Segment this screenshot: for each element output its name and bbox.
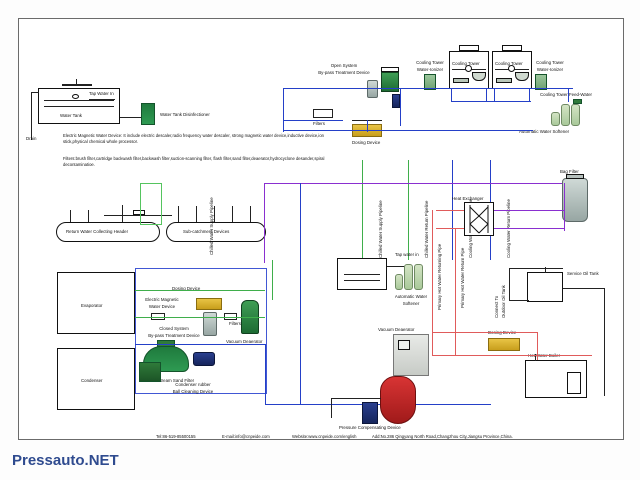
connect-to-outdoor-oil-tank-label-2: Outdoor Oil Tank — [501, 285, 507, 318]
service-oil-tank-label: Service Oil Tank — [567, 271, 599, 277]
dosing-device-top-label: Dosing Device — [352, 140, 380, 146]
pipe-bypass-return-riser — [400, 88, 401, 126]
pipe-bypass-riser — [283, 88, 284, 132]
pipe-dosing-top-drop — [367, 120, 368, 132]
oil-supply-drop — [604, 288, 605, 396]
oil-fill-line — [509, 268, 563, 269]
heat-exchanger-coil-icon — [464, 202, 494, 236]
connect-to-outdoor-oil-tank-label-1: Connect To — [494, 296, 500, 318]
pipe-cooling-top-return — [283, 130, 533, 131]
closed-bypass-vessel — [203, 312, 217, 336]
footer-tel: Tel:86-519-85500155 — [156, 434, 196, 439]
bypass-pump — [392, 94, 400, 108]
water-tank-disinfectioner-label: Water Tank Disinfectioner — [160, 112, 210, 118]
pipe-ct2-down — [494, 88, 495, 102]
pipe-hx-red-out — [436, 228, 464, 229]
water-tank-float-valve — [72, 94, 79, 99]
pipe-purple-riser — [264, 183, 265, 263]
pipe-condenser-bottom-main — [265, 404, 491, 405]
pipe-feedwater-riser — [568, 88, 569, 102]
electric-magnetic-water-device-label-2: Water Device — [134, 304, 190, 310]
tap-water-in-pipe — [89, 99, 115, 100]
chilled-water-return-pipeline-label: Chilled Water Return Pipeline — [424, 201, 430, 258]
pipe-boiler-supply-main — [432, 332, 537, 333]
pipe-ct2-up — [529, 88, 530, 102]
condenser-ball-cleaning-label-2: Ball Cleaning Device — [160, 389, 226, 395]
cooling-tower-2-fan-housing — [502, 45, 522, 51]
filters-top-label: Filters — [313, 121, 325, 127]
pressure-tank-drop — [331, 398, 332, 418]
cooling-tower-feed-water-label: Cooling Tower Feed-Water — [540, 92, 592, 98]
closed-system-bypass-label-2: By-pass Treatment Device — [135, 333, 213, 339]
drain-line — [31, 92, 32, 140]
watermark: Pressauto.NET — [12, 452, 119, 469]
pipe-condenser-riser — [265, 344, 266, 404]
pipe-ct-header — [451, 101, 531, 102]
condenser-label: Condenser — [81, 378, 102, 384]
footer-email: E-mail:info@cnpeide.com — [222, 434, 270, 439]
primary-hot-water-return-pipe-label: Primary Hot Water Return Pipe — [460, 248, 466, 308]
oil-fill-riser — [509, 268, 510, 300]
pipe-bagfilter-riser — [564, 183, 565, 231]
water-softener-mid-vessel-1 — [404, 264, 413, 290]
water-softener-mid-vessel-2 — [414, 264, 423, 290]
chilled-water-supply-pipeline-b-label: Chilled Water Supply Pipeline — [378, 200, 384, 258]
hot-water-boiler-burner — [567, 372, 581, 394]
pipe-closed-top — [135, 290, 265, 291]
automatic-water-softener-mid-label-1: Automatic Water — [383, 294, 439, 300]
cooling-tower-1-fan-housing — [459, 45, 479, 51]
vacuum-deaerator-bottom-panel — [398, 340, 410, 350]
pipe-green-branch — [272, 260, 273, 300]
cooling-tower-ionizer-right-label-1: Cooling Tower — [524, 60, 576, 66]
filters-mid-label: Filters — [229, 321, 241, 327]
cooling-tower-1-label: Cooling Tower — [452, 61, 480, 67]
pipe-boiler-return-main — [432, 355, 592, 356]
bag-filter-lid — [566, 174, 584, 179]
oil-return-line — [509, 300, 529, 301]
water-tank-lid — [62, 84, 92, 86]
pipe-blue-long-riser — [300, 183, 301, 404]
evaporator-label: Evaporator — [81, 303, 102, 309]
pipe-hx-red-in — [436, 210, 464, 211]
tap-water-in-mid-label: Tap water in — [395, 252, 419, 258]
pipe-closed-bottom — [135, 317, 265, 318]
water-tank-label: Water Tank — [60, 113, 82, 119]
water-softener-mid-brine-tank — [395, 274, 403, 290]
pipe-hot-returning — [432, 210, 433, 355]
pipe-ct1-up — [486, 88, 487, 102]
water-tank-disinfectioner-unit — [141, 103, 155, 125]
oil-supply-line — [563, 288, 605, 289]
cooling-tower-ionizer-left-label-1: Cooling Tower — [404, 60, 456, 66]
water-tank-level-1 — [44, 100, 114, 101]
water-tank-vent — [76, 79, 77, 85]
cooling-tower-1-basin — [453, 78, 469, 83]
pipe-purple-main — [264, 183, 564, 184]
expansion-tank-level-1 — [344, 274, 380, 275]
pipe-chilled-return — [408, 160, 409, 260]
cooling-tower-ionizer-right-label-2: Water-Ionizer — [524, 67, 576, 73]
return-water-collecting-header-label: Return Water Collecting Header — [66, 229, 128, 235]
bypass-skid-top — [381, 67, 399, 72]
electric-magnetic-water-device-label-1: Electric Magnetic — [134, 297, 190, 303]
pipe-hot-return — [455, 228, 456, 355]
water-softener-top-vessel-1 — [561, 104, 570, 126]
pressure-compensating-device-label: Pressure Compensating Device — [339, 425, 401, 431]
expansion-tank-level-2 — [344, 280, 380, 281]
pipe-boiler-supply-drop — [537, 332, 538, 360]
automatic-water-softener-mid-label-2: Softener — [383, 301, 439, 307]
footer-website: Website:www.cnpeide.com/english — [292, 434, 356, 439]
primary-hot-water-returning-pipe-label: Primary Hot Water Returning Pipe — [437, 244, 443, 310]
side-stream-pump — [193, 352, 215, 366]
note-filters: Filters:brush filter,cartridge backwash … — [63, 156, 338, 168]
pipe-bypass-branch — [283, 120, 343, 121]
open-system-bypass-label-1: Open System — [305, 63, 383, 69]
cooling-tower-ionizer-left-label-2: Water-Ionizer — [404, 67, 456, 73]
footer-address: Add:No.286 Qingyang North Road,Changzhou… — [372, 434, 513, 439]
pipe-ct1-down — [451, 88, 452, 102]
pipe-hx-purple-in — [494, 228, 564, 229]
cooling-tower-2-basin — [496, 78, 512, 83]
water-tank-level-2 — [44, 106, 114, 107]
diagram-canvas: HVACSystem Diagram Water Tank Drain Tap … — [0, 0, 640, 480]
sub-catchment-devices-label: Sub-catchment Devices — [183, 229, 229, 235]
chilled-water-supply-pipeline-a-label: Chilled Water Supply Pipeline — [209, 197, 215, 255]
tap-water-in-top-label: Tap Water In — [89, 91, 114, 97]
drain-connector — [31, 92, 39, 93]
vacuum-deaerator-bottom-label: Vacuum Deaerator — [378, 327, 415, 333]
pipe-condenser-loop — [135, 344, 265, 345]
pressure-tank-line — [331, 398, 381, 399]
pressure-compensating-tank — [380, 376, 416, 424]
service-oil-tank-body — [527, 272, 563, 302]
water-softener-top-brine-tank — [551, 112, 560, 126]
pipe-chilled-supply-b — [362, 160, 363, 260]
condenser-ball-cleaning-label-1: Condenser rubber — [160, 382, 226, 388]
pipe-hx-purple-out — [494, 210, 564, 211]
note-electric-magnetic: Electric Magnetic Water Device: It inclu… — [63, 133, 338, 145]
pressure-compensating-pump — [362, 402, 378, 424]
condenser-ball-cleaning-unit — [139, 362, 161, 382]
closed-system-bypass-label-1: Closed System — [149, 326, 199, 332]
water-softener-top-vessel-2 — [571, 104, 580, 126]
cooling-tower-2-label: Cooling Tower — [495, 61, 523, 67]
filters-top-unit — [313, 109, 333, 118]
heat-exchanger-label: Heat Exchanger — [452, 196, 484, 202]
dosing-device-mid-unit — [196, 298, 222, 310]
band-chilled-supply-a — [140, 183, 162, 225]
bag-filter-vessel — [562, 178, 588, 222]
drain-label: Drain — [26, 136, 37, 142]
dosing-device-bottom-unit — [488, 338, 520, 351]
